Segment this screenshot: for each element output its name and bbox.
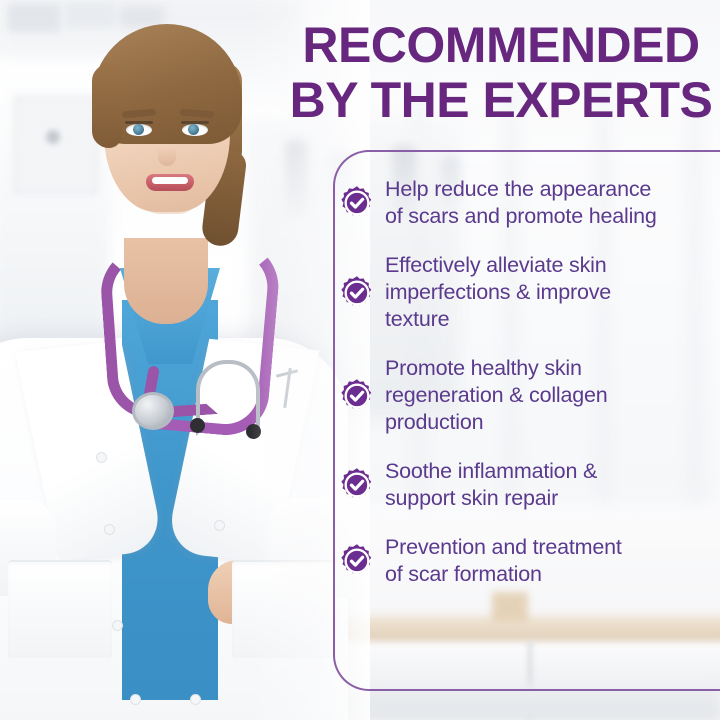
headline-line-2: BY THE EXPERTS	[286, 73, 716, 128]
benefit-text: Promote healthy skin regeneration & coll…	[385, 355, 608, 436]
coat-button	[104, 524, 115, 535]
check-badge-icon	[339, 467, 375, 503]
teeth	[152, 177, 188, 184]
benefit-line: texture	[385, 306, 611, 333]
benefit-line: Promote healthy skin	[385, 355, 608, 382]
hair-side	[92, 64, 122, 148]
iris	[188, 124, 199, 135]
check-badge-icon	[339, 378, 375, 414]
headline-line-1: RECOMMENDED	[286, 18, 716, 73]
eyelash	[181, 121, 209, 124]
benefit-line: support skin repair	[385, 485, 597, 512]
benefit-text: Effectively alleviate skin imperfections…	[385, 252, 611, 333]
stethoscope-eartip	[246, 424, 261, 439]
benefit-line: regeneration & collagen	[385, 382, 608, 409]
list-item: Soothe inflammation & support skin repai…	[339, 458, 712, 512]
benefit-text: Prevention and treatment of scar formati…	[385, 534, 622, 588]
eyelash	[125, 121, 153, 124]
page-title: RECOMMENDED BY THE EXPERTS	[286, 18, 716, 128]
coat-pocket-left	[8, 560, 112, 658]
benefit-line: of scars and promote healing	[385, 203, 657, 230]
benefit-line: Soothe inflammation &	[385, 458, 597, 485]
benefits-list: Help reduce the appearance of scars and …	[333, 150, 720, 691]
benefit-line: imperfections & improve	[385, 279, 611, 306]
benefit-text: Soothe inflammation & support skin repai…	[385, 458, 597, 512]
iris	[133, 124, 144, 135]
coat-button	[96, 452, 107, 463]
list-item: Prevention and treatment of scar formati…	[339, 534, 712, 588]
stethoscope-chestpiece	[132, 392, 174, 430]
stethoscope-eartip	[190, 418, 205, 433]
check-badge-icon	[339, 185, 375, 221]
benefit-line: Effectively alleviate skin	[385, 252, 611, 279]
benefit-line: Prevention and treatment	[385, 534, 622, 561]
list-item: Help reduce the appearance of scars and …	[339, 176, 712, 230]
coat-button	[130, 694, 141, 705]
coat-button	[190, 694, 201, 705]
promotional-poster: RECOMMENDED BY THE EXPERTS Help reduce t…	[0, 0, 720, 720]
benefit-line: of scar formation	[385, 561, 622, 588]
coat-pocket-right	[232, 560, 336, 658]
nose	[158, 140, 176, 166]
list-item: Promote healthy skin regeneration & coll…	[339, 355, 712, 436]
coat-button	[214, 520, 225, 531]
benefit-text: Help reduce the appearance of scars and …	[385, 176, 657, 230]
coat-button	[112, 620, 123, 631]
benefit-line: Help reduce the appearance	[385, 176, 657, 203]
check-badge-icon	[339, 275, 375, 311]
benefit-line: production	[385, 409, 608, 436]
check-badge-icon	[339, 543, 375, 579]
list-item: Effectively alleviate skin imperfections…	[339, 252, 712, 333]
